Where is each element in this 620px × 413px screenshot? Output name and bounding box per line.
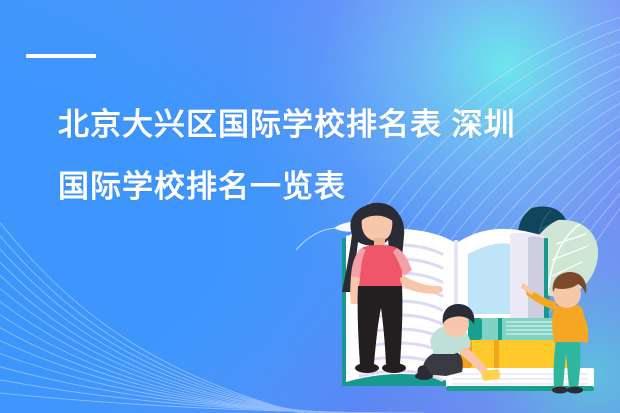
accent-dash <box>26 54 96 58</box>
promo-banner: 北京大兴区国际学校排名表 深圳国际学校排名一览表 <box>0 0 620 413</box>
education-illustration <box>296 196 620 413</box>
